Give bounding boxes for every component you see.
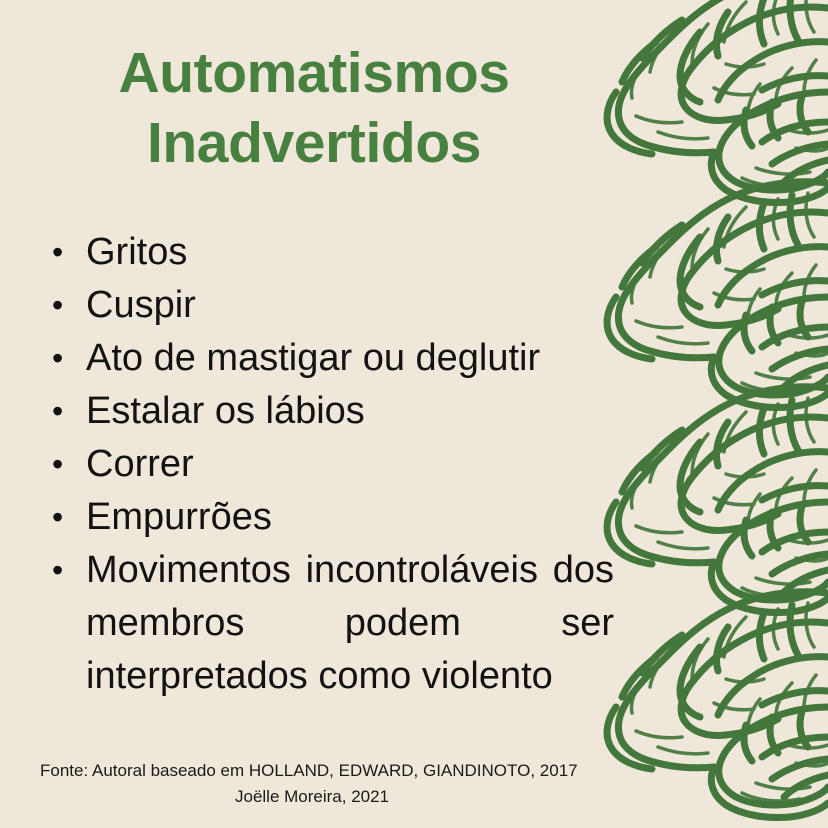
- footer-source-line: Fonte: Autoral baseado em HOLLAND, EDWAR…: [0, 758, 624, 784]
- list-item-label: Empurrões: [86, 491, 614, 544]
- page-title-line-2: Inadvertidos: [28, 108, 600, 178]
- footer: Fonte: Autoral baseado em HOLLAND, EDWAR…: [0, 758, 624, 810]
- brain-icon: [596, 382, 828, 628]
- list-item-label: Estalar os lábios: [86, 385, 614, 438]
- list-item: •Ato de mastigar ou deglutir: [46, 332, 614, 385]
- bullet-list: •Gritos•Cuspir•Ato de mastigar ou deglut…: [46, 226, 614, 703]
- footer-author-line: Joëlle Moreira, 2021: [0, 784, 624, 810]
- bullet-point-icon: •: [52, 279, 63, 332]
- bullet-point-icon: •: [52, 438, 63, 491]
- brain-icon: [596, 0, 828, 218]
- list-item-label: Movimentos incontroláveis dos membros po…: [86, 544, 614, 703]
- list-item-label: Gritos: [86, 226, 614, 279]
- bullet-point-icon: •: [52, 544, 63, 597]
- list-item: •Movimentos incontroláveis dos membros p…: [46, 544, 614, 703]
- list-item: •Empurrões: [46, 491, 614, 544]
- list-item: •Gritos: [46, 226, 614, 279]
- bullet-point-icon: •: [52, 226, 63, 279]
- slide-canvas: Automatismos Inadvertidos •Gritos•Cuspir…: [0, 0, 828, 828]
- page-title-line-1: Automatismos: [28, 38, 600, 108]
- list-item-label: Cuspir: [86, 279, 614, 332]
- list-item-label: Ato de mastigar ou deglutir: [86, 332, 614, 385]
- text-column: Automatismos Inadvertidos •Gritos•Cuspir…: [0, 0, 624, 828]
- brain-icon: [596, 177, 828, 423]
- list-item: •Cuspir: [46, 279, 614, 332]
- bullet-point-icon: •: [52, 491, 63, 544]
- list-item-label: Correr: [86, 438, 614, 491]
- list-item: •Correr: [46, 438, 614, 491]
- bullet-point-icon: •: [52, 385, 63, 438]
- brain-illustration-column: [596, 0, 828, 828]
- brain-icon: [596, 587, 828, 828]
- list-item: •Estalar os lábios: [46, 385, 614, 438]
- bullet-point-icon: •: [52, 332, 63, 385]
- page-title: Automatismos Inadvertidos: [28, 38, 600, 178]
